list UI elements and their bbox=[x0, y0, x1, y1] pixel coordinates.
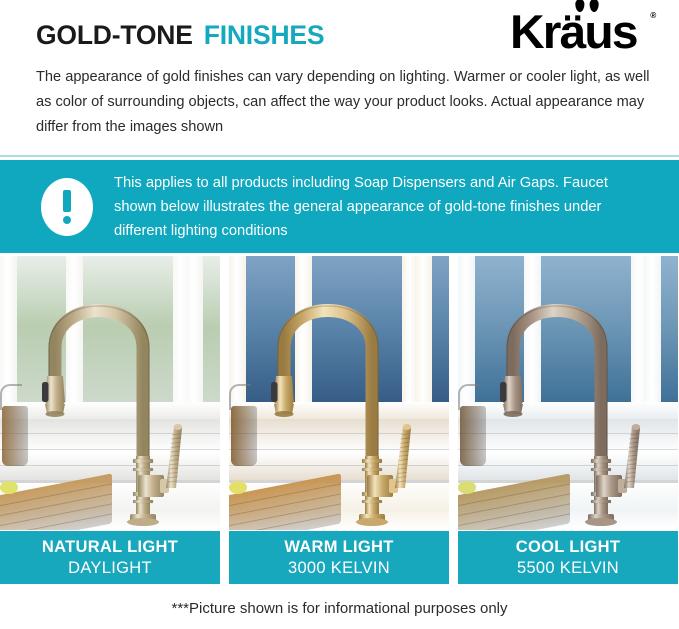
header-divider bbox=[0, 155, 679, 157]
panel-labels: NATURAL LIGHT DAYLIGHT WARM LIGHT 3000 K… bbox=[0, 531, 679, 584]
kitchen-scene bbox=[458, 256, 678, 530]
kraus-logo-wordmark: Kräus ® bbox=[510, 8, 654, 55]
kitchen-scene bbox=[229, 256, 449, 530]
callout-text: This applies to all products including S… bbox=[114, 171, 654, 243]
page-title: GOLD-TONE FINISHES bbox=[36, 20, 324, 51]
photo-panel-natural-light bbox=[0, 256, 220, 530]
water-drop-umlaut-icon bbox=[573, 0, 608, 13]
faucet-illustration bbox=[0, 256, 220, 530]
photo-panel-cool-light bbox=[458, 256, 678, 530]
label-warm-light: WARM LIGHT 3000 KELVIN bbox=[229, 531, 449, 584]
label-subtitle: 5500 KELVIN bbox=[517, 560, 619, 577]
photo-panel-warm-light bbox=[229, 256, 449, 530]
faucet-illustration bbox=[229, 256, 449, 530]
exclamation-icon bbox=[41, 178, 93, 236]
label-subtitle: DAYLIGHT bbox=[68, 560, 152, 577]
page-title-accent: FINISHES bbox=[204, 20, 325, 51]
label-title: NATURAL LIGHT bbox=[42, 539, 178, 556]
gold-tone-finishes-infographic: GOLD-TONE FINISHES Kräus ® The appearanc… bbox=[0, 0, 679, 629]
kraus-logo: Kräus ® bbox=[510, 8, 651, 60]
footer-note: ***Picture shown is for informational pu… bbox=[0, 600, 679, 617]
faucet-illustration bbox=[458, 256, 678, 530]
label-natural-light: NATURAL LIGHT DAYLIGHT bbox=[0, 531, 220, 584]
label-title: COOL LIGHT bbox=[516, 539, 620, 556]
label-title: WARM LIGHT bbox=[284, 539, 393, 556]
kitchen-scene bbox=[0, 256, 220, 530]
header: GOLD-TONE FINISHES Kräus ® The appearanc… bbox=[0, 0, 679, 156]
callout-band: This applies to all products including S… bbox=[0, 160, 679, 253]
comparison-panels bbox=[0, 256, 679, 530]
label-cool-light: COOL LIGHT 5500 KELVIN bbox=[458, 531, 678, 584]
intro-paragraph: The appearance of gold finishes can vary… bbox=[36, 65, 650, 140]
registered-trademark-icon: ® bbox=[650, 11, 656, 20]
label-subtitle: 3000 KELVIN bbox=[288, 560, 390, 577]
page-title-main: GOLD-TONE bbox=[36, 20, 193, 51]
